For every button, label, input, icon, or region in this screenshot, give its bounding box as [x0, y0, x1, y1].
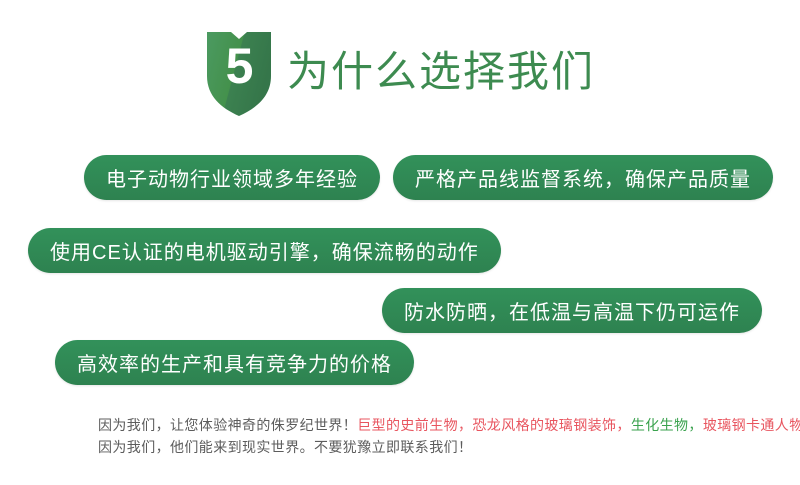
feature-pill-quality: 严格产品线监督系统，确保产品质量 — [393, 155, 773, 200]
feature-pill-label: 高效率的生产和具有竞争力的价格 — [77, 348, 392, 377]
feature-pill-label: 严格产品线监督系统，确保产品质量 — [415, 163, 751, 192]
feature-pill-experience: 电子动物行业领域多年经验 — [84, 155, 380, 200]
why-choose-us-banner: 5 为什么选择我们 电子动物行业领域多年经验 严格产品线监督系统，确保产品质量 … — [0, 0, 800, 485]
header: 5 为什么选择我们 — [0, 22, 800, 122]
feature-pill-weather: 防水防晒，在低温与高温下仍可运作 — [382, 288, 762, 333]
footer-highlight-animatronic: 生化生物， — [631, 417, 703, 433]
footer-intro-text: 因为我们，让您体验神奇的侏罗纪世界！ — [98, 417, 357, 433]
footer-paragraph: 因为我们，让您体验神奇的侏罗纪世界！巨型的史前生物，恐龙风格的玻璃钢装饰，生化生… — [98, 414, 758, 458]
footer-line-2: 因为我们，他们能来到现实世界。不要犹豫立即联系我们！ — [98, 436, 758, 458]
footer-highlight-prehistoric: 巨型的史前生物，恐龙风格的玻璃钢装饰， — [357, 417, 631, 433]
feature-pill-ce-motor: 使用CE认证的电机驱动引擎，确保流畅的动作 — [28, 228, 501, 273]
feature-pill-price: 高效率的生产和具有竞争力的价格 — [55, 340, 414, 385]
footer-highlight-cartoon: 玻璃钢卡通人物 — [703, 417, 800, 433]
feature-pill-label: 电子动物行业领域多年经验 — [106, 163, 358, 192]
badge: 5 — [205, 26, 273, 118]
footer-line-1: 因为我们，让您体验神奇的侏罗纪世界！巨型的史前生物，恐龙风格的玻璃钢装饰，生化生… — [98, 414, 758, 436]
page-title: 为什么选择我们 — [287, 51, 595, 93]
feature-pill-label: 防水防晒，在低温与高温下仍可运作 — [404, 296, 740, 325]
badge-number: 5 — [205, 26, 273, 118]
feature-pill-label: 使用CE认证的电机驱动引擎，确保流畅的动作 — [50, 236, 479, 265]
